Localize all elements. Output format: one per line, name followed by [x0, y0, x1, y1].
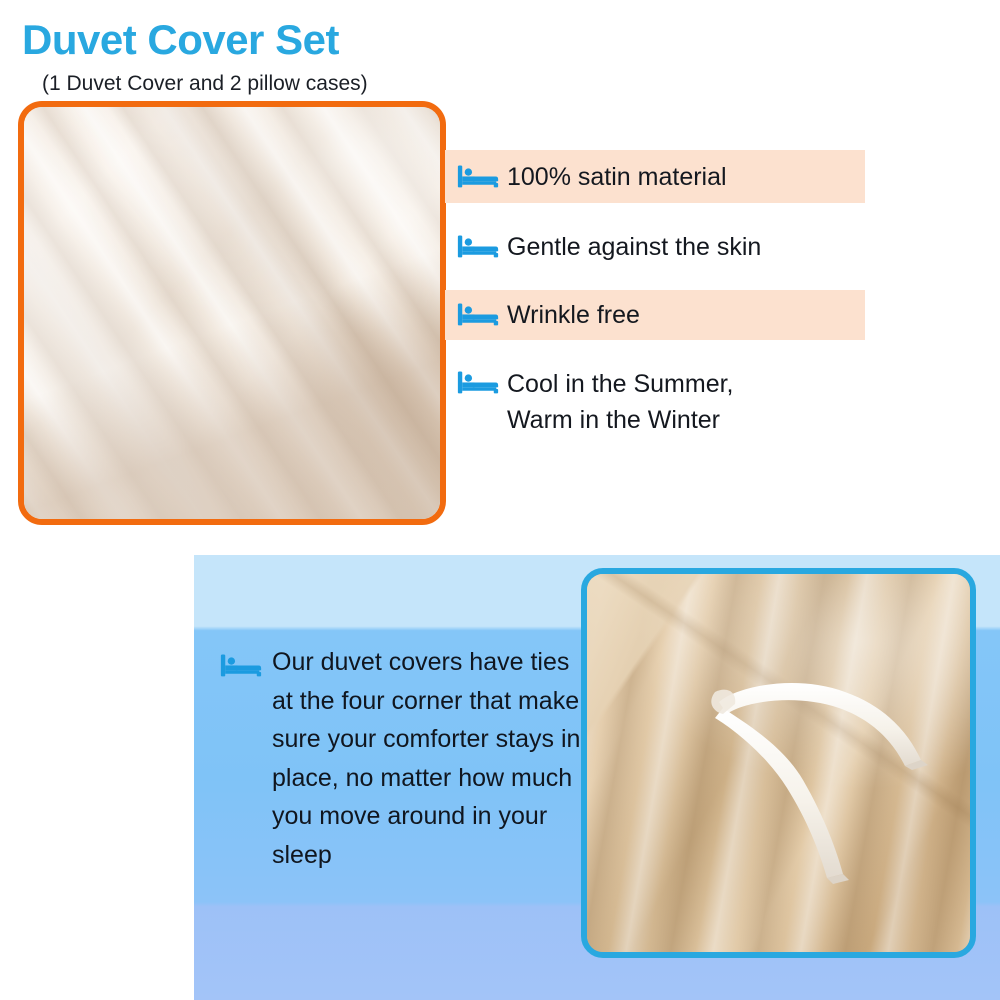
list-item-label: Gentle against the skin [507, 229, 771, 265]
fabric-photo [18, 101, 446, 525]
bed-person-icon [457, 232, 499, 262]
list-item-label: 100% satin material [507, 159, 737, 195]
list-item: Gentle against the skin [445, 220, 865, 273]
bed-person-icon [220, 651, 262, 681]
bed-person-icon [457, 368, 499, 398]
ties-description-text: Our duvet covers have ties at the four c… [272, 643, 585, 874]
spacer [445, 340, 865, 360]
fabric-shadow-layer [24, 107, 440, 519]
ties-description: Our duvet covers have ties at the four c… [220, 643, 585, 874]
page-subtitle: (1 Duvet Cover and 2 pillow cases) [42, 72, 368, 96]
list-item: 100% satin material [445, 150, 865, 203]
white-ribbon-ties [587, 574, 970, 952]
list-item-label: Cool in the Summer, Warm in the Winter [507, 366, 744, 438]
page-title: Duvet Cover Set [22, 16, 339, 64]
spacer [445, 203, 865, 220]
bed-person-icon [457, 300, 499, 330]
list-item: Wrinkle free [445, 290, 865, 340]
list-item: Cool in the Summer, Warm in the Winter [445, 360, 865, 448]
ties-photo [581, 568, 976, 958]
bed-person-icon [457, 162, 499, 192]
list-item-label: Wrinkle free [507, 297, 650, 333]
feature-list: 100% satin material Gentle against the s… [445, 150, 865, 448]
ties-section-panel: Our duvet covers have ties at the four c… [194, 555, 1000, 1000]
infographic-page: Duvet Cover Set (1 Duvet Cover and 2 pil… [0, 0, 1000, 1000]
spacer [445, 273, 865, 290]
